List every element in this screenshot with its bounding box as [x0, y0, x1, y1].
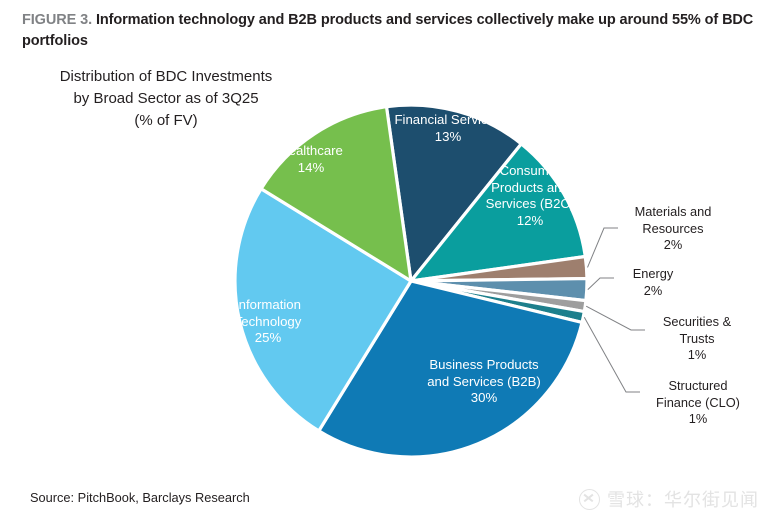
callout-energy-line-1: Energy [607, 266, 699, 283]
leader-line [586, 306, 645, 330]
callout-energy-percent: 2% [607, 283, 699, 300]
slice-label-information-technology-line-2: Technology [202, 314, 334, 331]
watermark: 雪球：华尔街见闻 [579, 486, 759, 512]
slice-label-business-b2b-percent: 30% [406, 390, 562, 407]
pie-chart-svg [0, 0, 777, 518]
callout-securities-line-2: Trusts [638, 331, 756, 348]
callout-materials-line-2: Resources [607, 221, 739, 238]
callout-structured-line-1: Structured [630, 378, 766, 395]
slice-label-financial-services: Financial Services 13% [383, 112, 513, 145]
slice-label-business-b2b-line-1: Business Products [429, 357, 538, 372]
callout-securities-percent: 1% [638, 347, 756, 364]
slice-label-business-b2b-line-2: and Services (B2B) [406, 374, 562, 391]
slice-label-consumer-b2c-percent: 12% [473, 213, 587, 230]
xueqiu-logo-icon [579, 489, 600, 510]
callout-label-structured-finance-clo: Structured Finance (CLO) 1% [630, 378, 766, 428]
slice-label-financial-services-text: Financial Services [394, 112, 501, 127]
callout-structured-percent: 1% [630, 411, 766, 428]
slice-label-healthcare-percent: 14% [253, 160, 369, 177]
slice-label-information-technology: Information Technology 25% [202, 297, 334, 347]
slice-label-consumer-b2c-line-2: Products and [473, 180, 587, 197]
slice-label-information-technology-percent: 25% [202, 330, 334, 347]
slice-label-healthcare: Healthcare 14% [253, 143, 369, 176]
slice-label-consumer-b2c: Consumer Products and Services (B2C) 12% [473, 163, 587, 229]
slice-label-information-technology-line-1: Information [235, 297, 301, 312]
callout-materials-line-1: Materials and [607, 204, 739, 221]
slice-label-healthcare-text: Healthcare [279, 143, 343, 158]
callout-securities-line-1: Securities & [638, 314, 756, 331]
callout-structured-line-2: Finance (CLO) [630, 395, 766, 412]
slice-label-business-b2b: Business Products and Services (B2B) 30% [406, 357, 562, 407]
slice-label-consumer-b2c-line-3: Services (B2C) [473, 196, 587, 213]
callout-label-energy: Energy 2% [607, 266, 699, 299]
slice-label-financial-services-percent: 13% [383, 129, 513, 146]
watermark-text: 雪球：华尔街见闻 [607, 486, 759, 512]
callout-materials-percent: 2% [607, 237, 739, 254]
callout-label-securities-and-trusts: Securities & Trusts 1% [638, 314, 756, 364]
pie-chart: Financial Services 13% Consumer Products… [0, 0, 777, 518]
slice-label-consumer-b2c-line-1: Consumer [500, 163, 561, 178]
source-note: Source: PitchBook, Barclays Research [30, 490, 250, 505]
callout-label-materials-and-resources: Materials and Resources 2% [607, 204, 739, 254]
